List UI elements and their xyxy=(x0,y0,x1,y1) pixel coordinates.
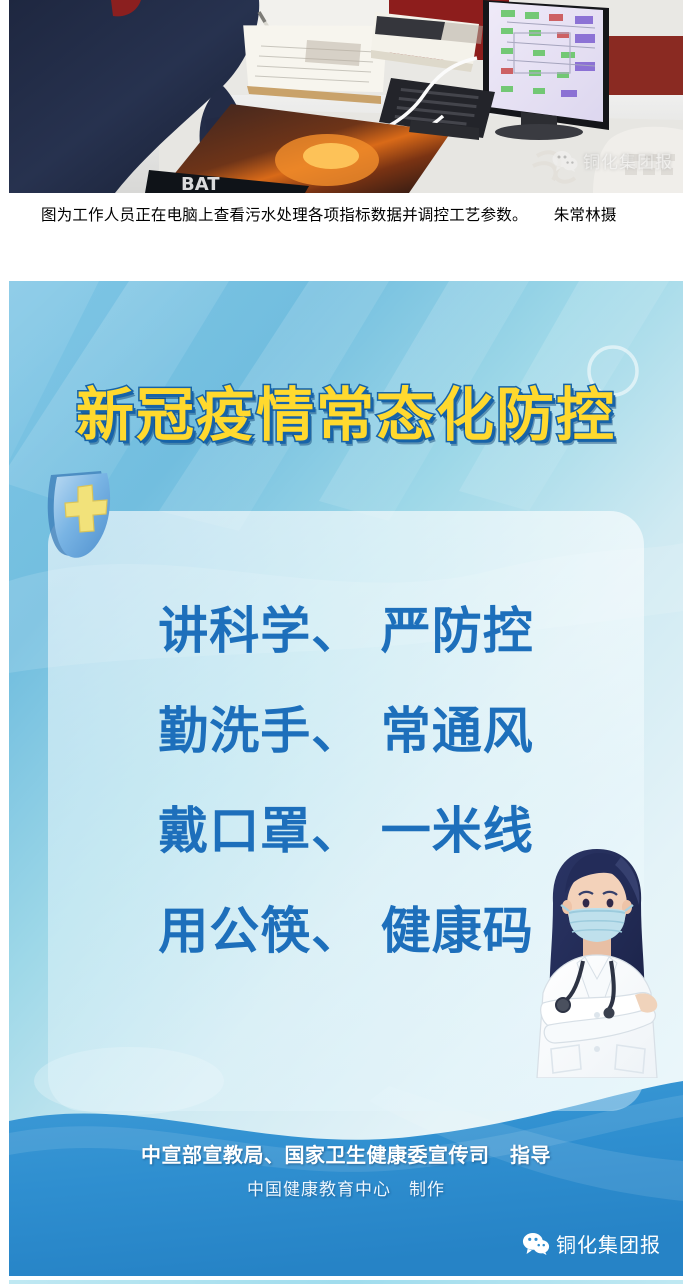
caption-credit: 朱常林 xyxy=(554,206,601,224)
poster-footer-line-2: 中国健康教育中心 制作 xyxy=(9,1175,683,1200)
photo-watermark-label: 铜化集团报 xyxy=(583,148,673,173)
article-photo: BAT xyxy=(9,0,683,193)
article-page: BAT xyxy=(0,0,691,1284)
caption-text: 图为工作人员正在电脑上查看污水处理各项指标数据并调控工艺参数。 xyxy=(41,206,528,224)
covid-prevention-poster: 新冠疫情常态化防控 讲科学、 严防控 勤洗手、 常通风 戴口罩、 一米线 用公筷… xyxy=(9,281,683,1276)
poster-title: 新冠疫情常态化防控 xyxy=(9,386,683,444)
next-content-block xyxy=(9,1280,683,1284)
poster-watermark: 铜化集团报 xyxy=(522,1229,661,1258)
wechat-icon xyxy=(552,150,578,172)
wechat-icon xyxy=(522,1232,550,1255)
shield-cross-icon xyxy=(45,469,123,561)
photo-watermark: 铜化集团报 xyxy=(552,148,673,173)
poster-watermark-label: 铜化集团报 xyxy=(556,1229,661,1258)
caption-credit-suffix: 摄 xyxy=(601,206,617,224)
slogan-line: 讲科学、 严防控 xyxy=(9,581,683,681)
slogan-line: 勤洗手、 常通风 xyxy=(9,681,683,781)
masked-doctor-icon xyxy=(517,843,677,1078)
poster-footer-line-1: 中宣部宣教局、国家卫生健康委宣传司 指导 xyxy=(9,1139,683,1168)
poster-title-text: 新冠疫情常态化防控 xyxy=(76,386,616,444)
svg-text:BAT: BAT xyxy=(181,174,220,193)
photo-caption: 图为工作人员正在电脑上查看污水处理各项指标数据并调控工艺参数。朱常林摄 xyxy=(9,201,683,229)
